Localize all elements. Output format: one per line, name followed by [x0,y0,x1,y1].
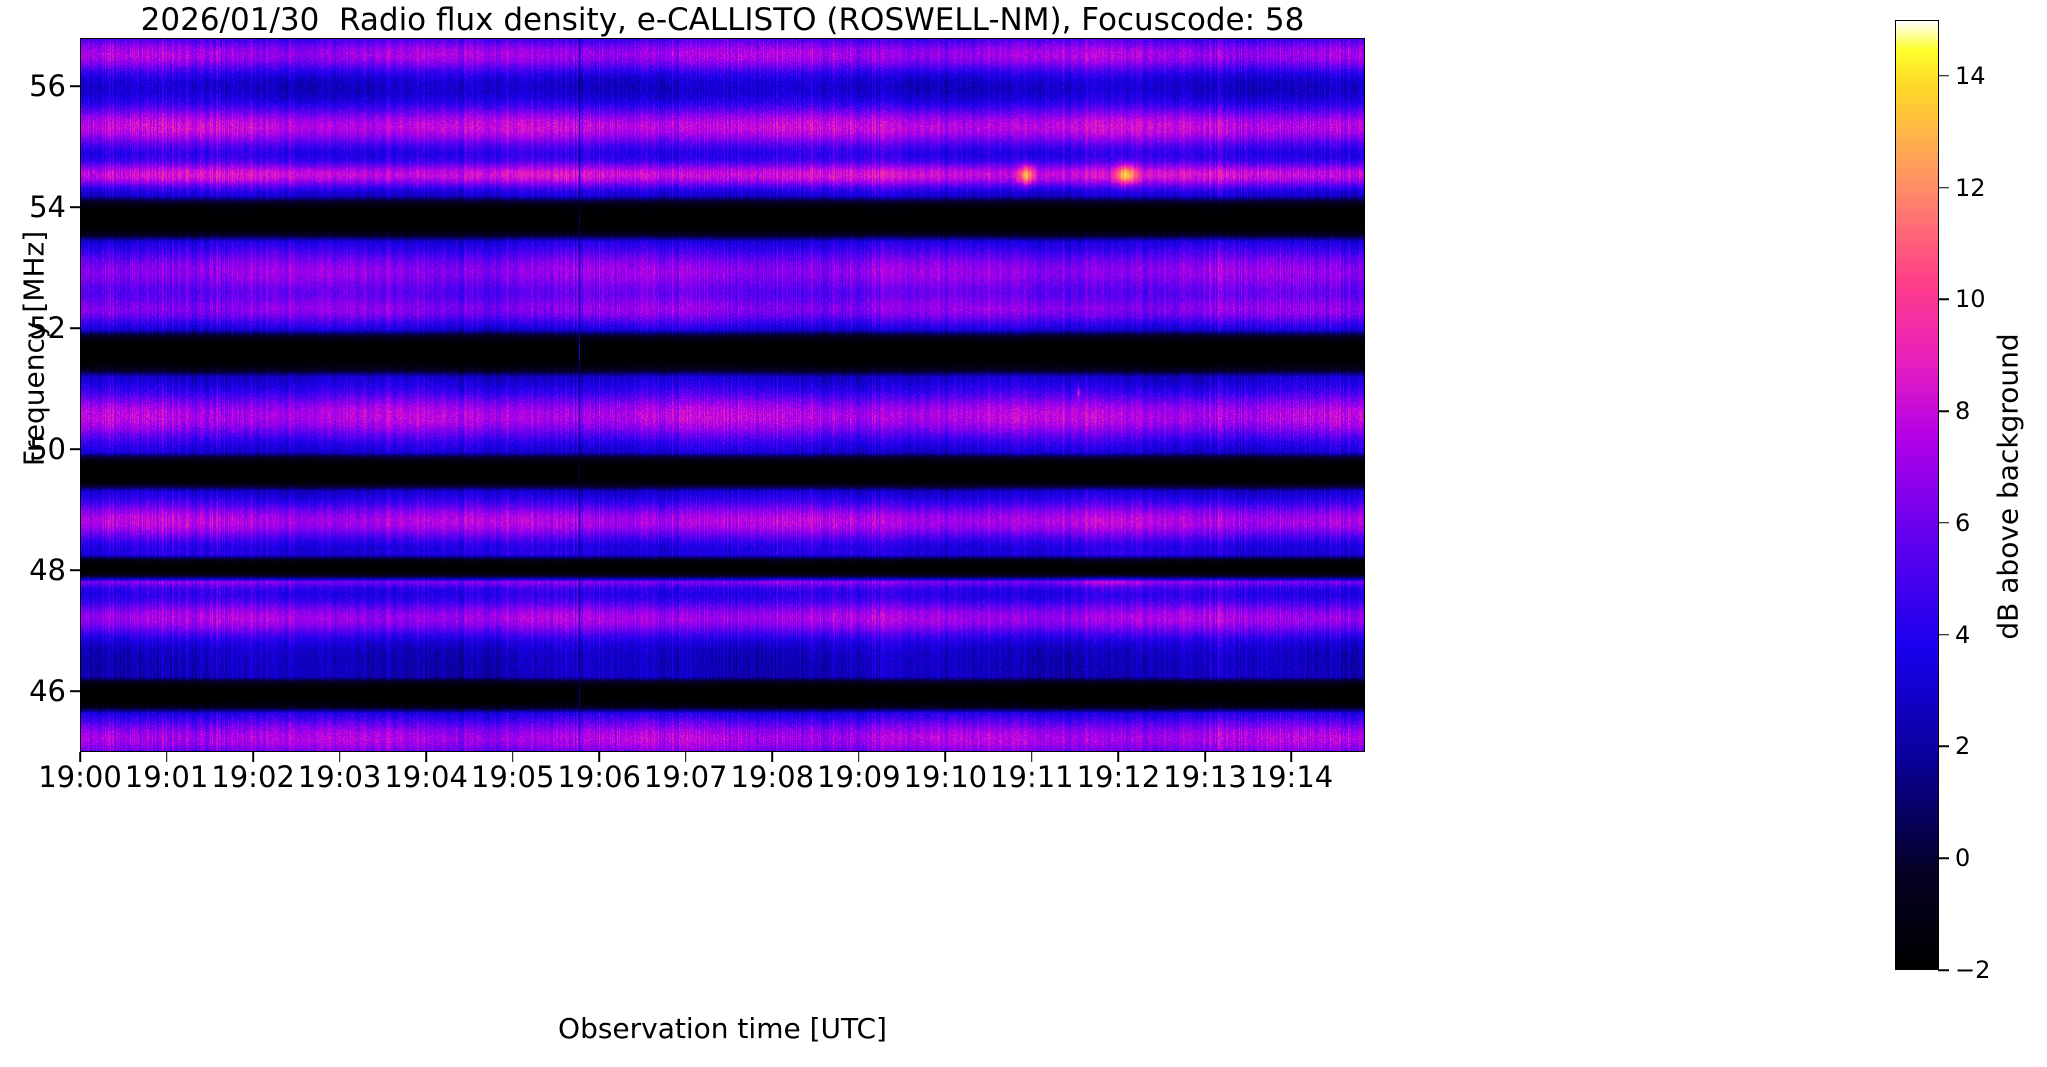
colorbar-tick-mark [1938,187,1949,189]
x-tick-label: 19:06 [557,760,641,794]
colorbar-canvas [1896,21,1938,969]
x-tick-mark [339,752,341,762]
x-tick-mark [1204,752,1206,762]
x-tick-mark [1118,752,1120,762]
colorbar-tick-mark [1938,857,1949,859]
x-tick-label: 19:00 [38,760,122,794]
x-tick-label: 19:01 [125,760,209,794]
x-tick-label: 19:02 [211,760,295,794]
spectrogram-plot-area [80,38,1365,752]
spectrogram-canvas [81,39,1364,751]
x-tick-mark [425,752,427,762]
x-tick-label: 19:13 [1163,760,1247,794]
x-tick-label: 19:10 [904,760,988,794]
y-tick-mark [70,449,80,451]
x-tick-label: 19:14 [1250,760,1334,794]
colorbar-tick-label: −2 [1955,956,1990,984]
x-tick-mark [598,752,600,762]
y-axis-label: Frequency [MHz] [18,89,51,609]
x-tick-mark [858,752,860,762]
colorbar-label: dB above background [1992,227,2025,747]
y-tick-label: 46 [6,674,66,708]
figure-title: 2026/01/30 Radio flux density, e-CALLIST… [0,2,1445,38]
y-tick-label: 48 [6,553,66,587]
colorbar-tick-mark [1938,299,1949,301]
colorbar-tick-label: 10 [1955,285,1986,313]
y-tick-label: 56 [6,69,66,103]
colorbar-tick-label: 2 [1955,732,1970,760]
colorbar-tick-mark [1938,75,1949,77]
x-tick-label: 19:12 [1077,760,1161,794]
spectrogram-figure: 2026/01/30 Radio flux density, e-CALLIST… [0,0,2047,1067]
x-tick-label: 19:04 [384,760,468,794]
colorbar-tick-label: 8 [1955,397,1970,425]
x-tick-label: 19:05 [471,760,555,794]
y-tick-label: 52 [6,311,66,345]
y-tick-label: 50 [6,432,66,466]
x-tick-mark [252,752,254,762]
x-tick-mark [685,752,687,762]
x-tick-mark [79,752,81,762]
y-tick-mark [70,86,80,88]
colorbar-tick-mark [1938,522,1949,524]
x-tick-mark [1031,752,1033,762]
x-tick-label: 19:09 [817,760,901,794]
x-tick-label: 19:03 [298,760,382,794]
y-tick-mark [70,328,80,330]
x-tick-mark [1291,752,1293,762]
colorbar-tick-label: 6 [1955,509,1970,537]
x-tick-label: 19:07 [644,760,728,794]
y-tick-label: 54 [6,190,66,224]
x-tick-mark [512,752,514,762]
colorbar-tick-mark [1938,410,1949,412]
colorbar-tick-label: 12 [1955,174,1986,202]
colorbar [1895,20,1939,970]
colorbar-tick-mark [1938,746,1949,748]
y-tick-mark [70,207,80,209]
x-axis-label: Observation time [UTC] [80,1012,1365,1045]
y-tick-mark [70,570,80,572]
colorbar-tick-label: 4 [1955,621,1970,649]
colorbar-tick-mark [1938,969,1949,971]
x-tick-mark [945,752,947,762]
y-tick-mark [70,691,80,693]
x-tick-label: 19:08 [730,760,814,794]
colorbar-tick-label: 0 [1955,844,1970,872]
x-tick-mark [166,752,168,762]
x-tick-mark [771,752,773,762]
colorbar-tick-mark [1938,634,1949,636]
colorbar-tick-label: 14 [1955,62,1986,90]
x-tick-label: 19:11 [990,760,1074,794]
